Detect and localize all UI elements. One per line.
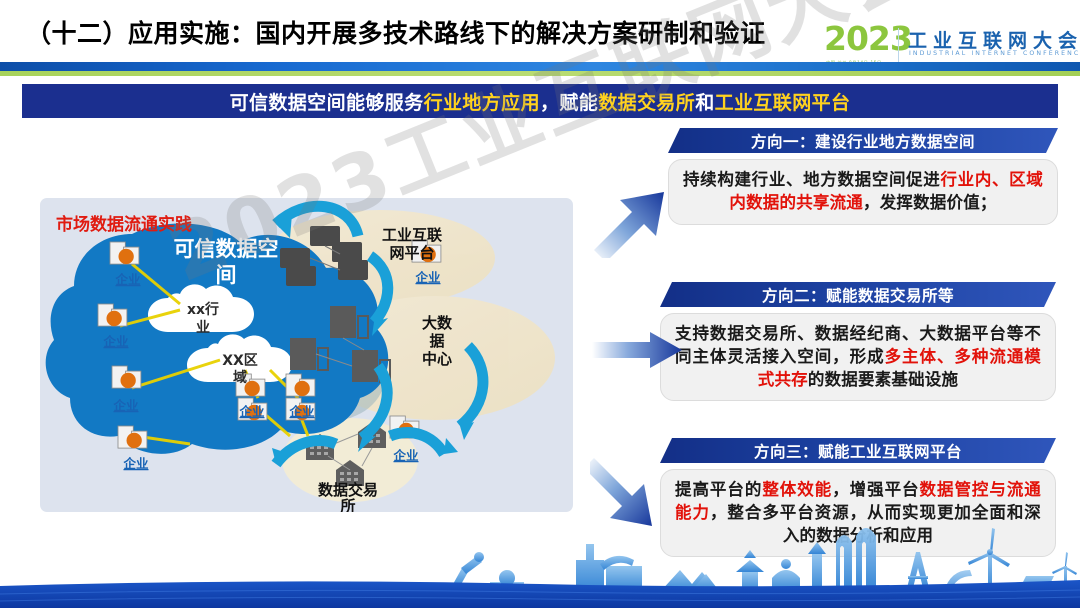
d2-seg-2: 的数据要素基础设施	[808, 370, 958, 389]
svg-text:网平台: 网平台	[389, 244, 434, 262]
direction-two-panel: 方向二：赋能数据交易所等 支持数据交易所、数据经纪商、大数据平台等不同主体灵活接…	[660, 282, 1056, 401]
d1-seg-0: 持续构建行业、地方数据空间促进	[683, 170, 940, 189]
slide-root: （十二）应用实施：国内开展多技术路线下的解决方案研制和验证 2023 中国·苏州…	[0, 0, 1080, 608]
banner-part-2: ，赋能	[540, 92, 598, 114]
svg-text:工业互联: 工业互联	[382, 226, 443, 244]
direction-one-text: 持续构建行业、地方数据空间促进行业内、区域内数据的共享流通，发挥数据价值；	[683, 169, 1043, 215]
direction-two-header-text: 方向二：赋能数据交易所等	[762, 284, 954, 306]
d3-seg-1: 整体效能	[762, 480, 832, 499]
direction-one-panel: 方向一：建设行业地方数据空间 持续构建行业、地方数据空间促进行业内、区域内数据的…	[668, 128, 1058, 225]
banner-part-3: 和	[695, 92, 714, 114]
arrow-to-direction-three	[590, 452, 682, 528]
svg-text:企业: 企业	[112, 398, 139, 413]
page-title: （十二）应用实施：国内开展多技术路线下的解决方案研制和验证	[26, 14, 846, 50]
arrow-to-direction-two	[592, 330, 684, 370]
direction-one-header: 方向一：建设行业地方数据空间	[668, 128, 1058, 153]
subtitle-banner-text: 可信数据空间能够服务行业地方应用，赋能数据交易所和工业互联网平台	[230, 88, 851, 115]
direction-one-body: 持续构建行业、地方数据空间促进行业内、区域内数据的共享流通，发挥数据价值；	[668, 159, 1058, 225]
architecture-diagram: 可信数据空 间 xx行 业 XX区 域 工业互联 网平台 大数 据 中心 数据交…	[40, 198, 573, 512]
svg-text:企业: 企业	[102, 334, 129, 349]
d1-seg-2: ，发挥数据价值；	[863, 193, 997, 212]
svg-text:XX区: XX区	[222, 353, 258, 369]
banner-highlight-1: 行业地方应用	[424, 92, 540, 114]
svg-text:间: 间	[216, 263, 237, 287]
banner-highlight-3: 工业互联网平台	[715, 92, 851, 114]
logo-cn-name: 工业互联网大会	[908, 26, 1080, 53]
market-data-flow-label: 市场数据流通实践	[40, 216, 208, 236]
svg-text:企业: 企业	[288, 404, 315, 419]
direction-two-header: 方向二：赋能数据交易所等	[660, 282, 1056, 307]
d3-seg-0: 提高平台的	[675, 480, 762, 499]
svg-text:xx行: xx行	[187, 301, 219, 318]
header-green-stripe	[0, 71, 1080, 76]
svg-text:可信数据空: 可信数据空	[174, 237, 279, 261]
d3-seg-2: ，增强平台	[832, 480, 919, 499]
direction-two-body: 支持数据交易所、数据经纪商、大数据平台等不同主体灵活接入空间，形成多主体、多种流…	[660, 313, 1056, 401]
svg-text:大数: 大数	[422, 314, 453, 332]
svg-text:业: 业	[196, 320, 210, 336]
svg-text:企业: 企业	[122, 456, 149, 471]
svg-text:企业: 企业	[392, 448, 419, 463]
logo-divider	[898, 28, 899, 66]
direction-one-header-text: 方向一：建设行业地方数据空间	[751, 130, 975, 152]
svg-text:域: 域	[233, 369, 247, 386]
banner-highlight-2: 数据交易所	[598, 92, 695, 114]
svg-text:企业: 企业	[414, 270, 441, 285]
sea-wave	[0, 580, 1080, 608]
direction-two-text: 支持数据交易所、数据经纪商、大数据平台等不同主体灵活接入空间，形成多主体、多种流…	[675, 323, 1041, 391]
direction-three-header-text: 方向三：赋能工业互联网平台	[754, 440, 962, 462]
bottom-decoration-band	[0, 516, 1080, 608]
svg-text:中心: 中心	[422, 350, 452, 368]
svg-text:据: 据	[429, 332, 444, 350]
banner-part-1: 可信数据空间能够服务	[230, 92, 424, 114]
svg-text:企业: 企业	[114, 272, 141, 287]
logo-en-name: INDUSTRIAL INTERNET CONFERENCE	[909, 50, 1080, 57]
arrow-to-direction-one	[592, 188, 682, 258]
svg-text:企业: 企业	[238, 404, 265, 419]
svg-text:所: 所	[340, 497, 355, 512]
direction-three-header: 方向三：赋能工业互联网平台	[660, 438, 1056, 463]
city-silhouette	[448, 528, 1077, 592]
subtitle-banner: 可信数据空间能够服务行业地方应用，赋能数据交易所和工业互联网平台	[22, 84, 1058, 118]
header-blue-stripe	[0, 62, 1080, 71]
